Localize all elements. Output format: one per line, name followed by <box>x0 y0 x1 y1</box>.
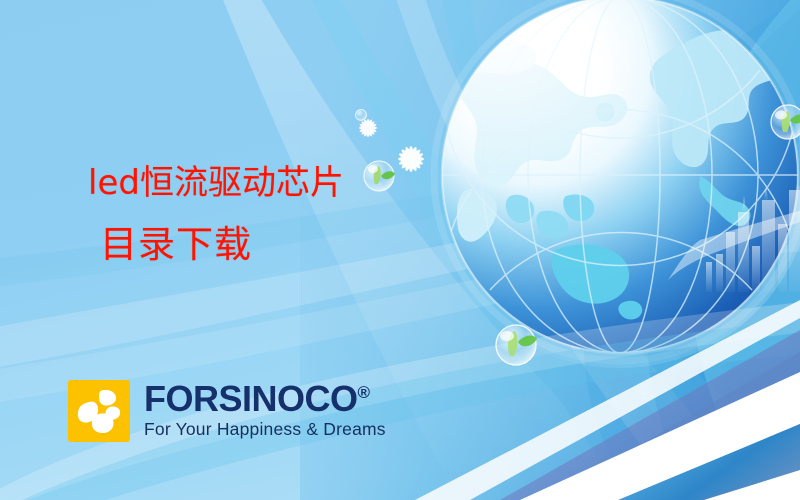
bubble-leaf-center <box>496 325 537 365</box>
bubble-leaf-left <box>364 161 395 191</box>
logo-wordmark: FORSINOCO® For Your Happiness & Dreams <box>144 382 386 440</box>
bubble-small-top <box>356 110 367 121</box>
headline-line-2: 目录下载 <box>100 226 344 263</box>
flower-petals-icon <box>68 380 130 442</box>
sparkle-asterisk-2 <box>398 146 424 172</box>
promo-banner: led恒流驱动芯片 目录下载 FORSINOCO® <box>0 0 800 500</box>
headline-line-1: led恒流驱动芯片 <box>88 166 344 200</box>
registered-trademark-symbol: ® <box>358 383 371 402</box>
company-name-text: FORSINOCO <box>144 378 358 419</box>
company-tagline: For Your Happiness & Dreams <box>144 419 386 440</box>
company-logo[interactable]: FORSINOCO® For Your Happiness & Dreams <box>68 380 386 442</box>
company-name: FORSINOCO® <box>144 382 386 416</box>
forsinoco-flower-mark-icon <box>68 380 130 442</box>
bubble-leaf-right <box>771 105 800 139</box>
headline-block: led恒流驱动芯片 目录下载 <box>88 166 344 263</box>
